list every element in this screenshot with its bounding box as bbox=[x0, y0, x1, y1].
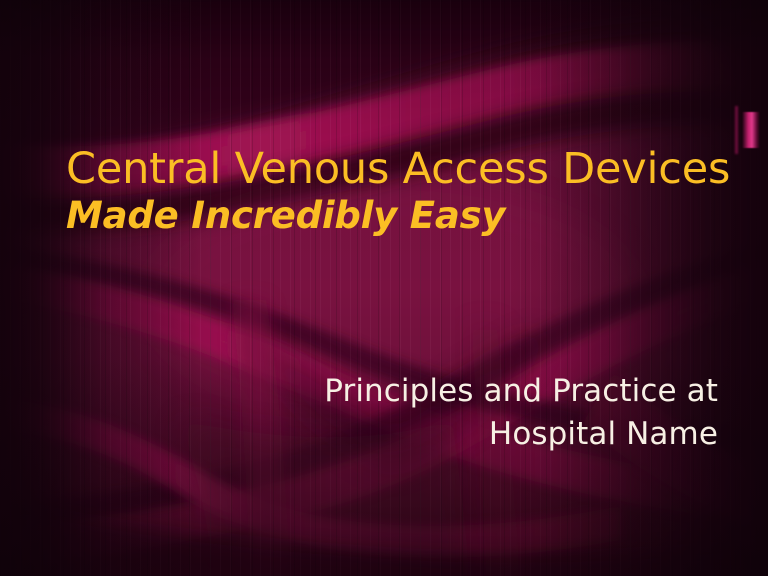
slide-subtitle: Principles and Practice at Hospital Name bbox=[180, 370, 718, 456]
slide-subtitle-line-2: Hospital Name bbox=[180, 413, 718, 456]
slide-title-line-1: Central Venous Access Devices bbox=[66, 148, 746, 192]
slide-subtitle-line-1: Principles and Practice at bbox=[180, 370, 718, 413]
edge-darkening-wash bbox=[0, 0, 768, 576]
presentation-slide: Central Venous Access Devices Made Incre… bbox=[0, 0, 768, 576]
slide-title: Central Venous Access Devices Made Incre… bbox=[66, 148, 746, 238]
slide-title-line-2: Made Incredibly Easy bbox=[66, 194, 746, 238]
slide-background-artwork bbox=[0, 0, 768, 576]
